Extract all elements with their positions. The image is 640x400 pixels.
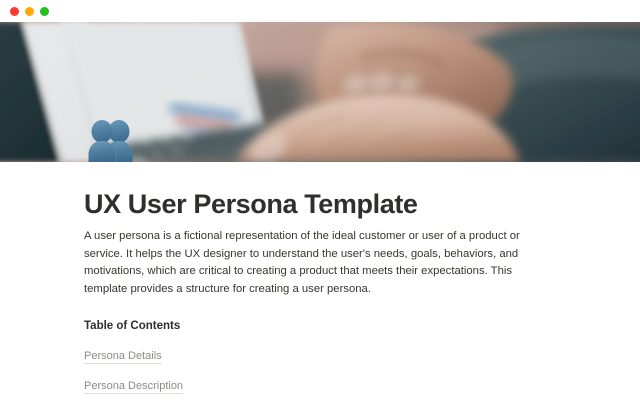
table-of-contents-heading: Table of Contents [84, 320, 180, 332]
document-description[interactable]: A user persona is a fictional representa… [84, 228, 554, 298]
close-window-button[interactable] [10, 7, 19, 16]
document-body: UX User Persona Template A user persona … [0, 162, 640, 400]
table-of-contents-list: Persona Details Persona Description [84, 346, 183, 400]
toc-link-persona-description[interactable]: Persona Description [84, 380, 183, 394]
list-item: Persona Description [84, 376, 183, 394]
window-titlebar [0, 0, 640, 22]
minimize-window-button[interactable] [25, 7, 34, 16]
browser-window: UX User Persona Template A user persona … [0, 0, 640, 400]
zoom-window-button[interactable] [40, 7, 49, 16]
users-icon-glyph [84, 118, 140, 162]
page-title[interactable]: UX User Persona Template [84, 189, 418, 220]
list-item: Persona Details [84, 346, 183, 364]
users-icon[interactable] [84, 118, 140, 162]
traffic-light-controls [10, 7, 49, 16]
toc-link-persona-details[interactable]: Persona Details [84, 350, 162, 364]
